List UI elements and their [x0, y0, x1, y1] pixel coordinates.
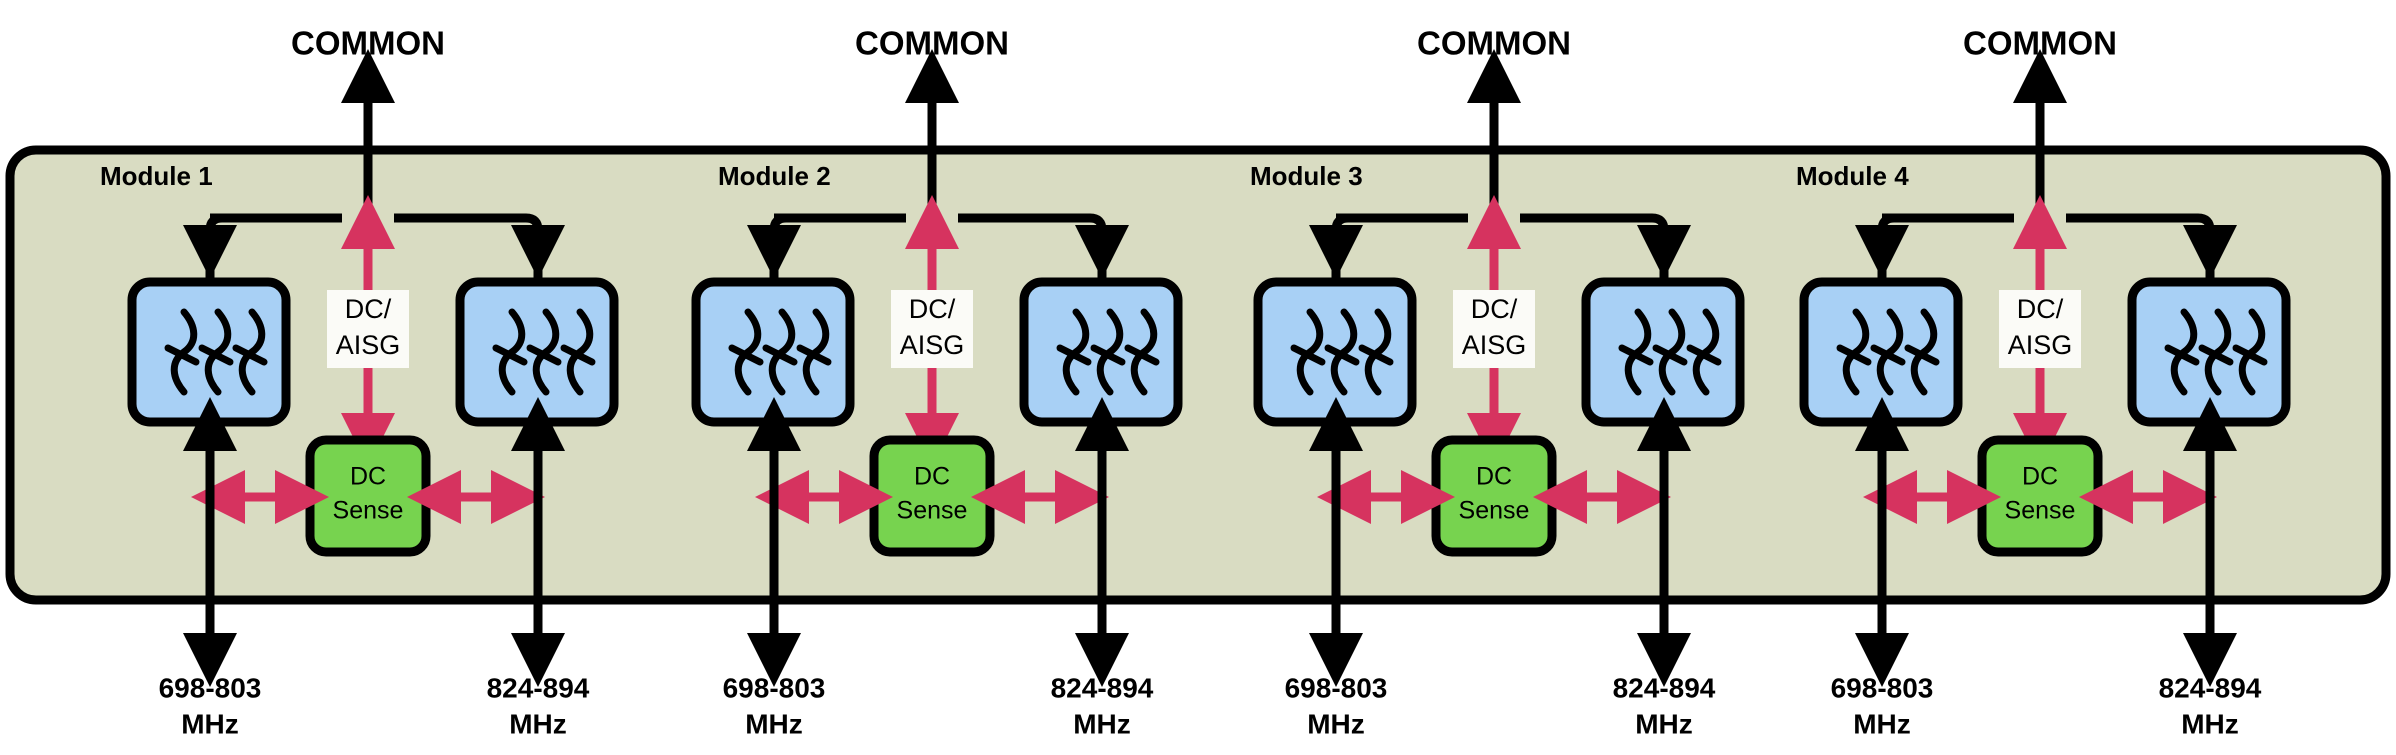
common-label-3: COMMON [1417, 25, 1571, 62]
port-label-low-band-1: 698-803 [159, 672, 262, 703]
module-3: COMMON DC/ AISG DC Sense 698-803 MHz 824… [1250, 25, 1740, 740]
dc-sense-label-line1-4: DC [2022, 463, 2058, 491]
dc-sense-label-line2-4: Sense [2005, 497, 2076, 525]
common-label-1: COMMON [291, 25, 445, 62]
module-label-1: Module 1 [100, 161, 213, 191]
port-label-high-band-1: 824-894 [487, 672, 590, 703]
module-4: COMMON DC/ AISG DC Sense 698-803 MHz 824… [1796, 25, 2286, 740]
module-label-4: Module 4 [1796, 161, 1909, 191]
dc-aisg-label-line1-2: DC/ [909, 294, 956, 324]
dc-sense-label-line2-2: Sense [897, 497, 968, 525]
block-diagram: COMMON DC/ AISG DC Sense [0, 0, 2396, 755]
dc-aisg-label-line1-3: DC/ [1471, 294, 1518, 324]
diagram-root: COMMON DC/ AISG DC Sense [0, 0, 2396, 755]
port-label-high-band-2: 824-894 [1051, 672, 1154, 703]
port-unit-low-band-1: MHz [181, 708, 239, 739]
dc-sense-label-line1-3: DC [1476, 463, 1512, 491]
dc-aisg-label-line2-4: AISG [2008, 330, 2073, 360]
common-label-4: COMMON [1963, 25, 2117, 62]
dc-aisg-label-line1-4: DC/ [2017, 294, 2064, 324]
common-label-2: COMMON [855, 25, 1009, 62]
dc-aisg-label-line2-3: AISG [1462, 330, 1527, 360]
dc-aisg-label-line2-2: AISG [900, 330, 965, 360]
port-unit-high-band-3: MHz [1635, 708, 1693, 739]
port-unit-low-band-4: MHz [1853, 708, 1911, 739]
port-unit-high-band-2: MHz [1073, 708, 1131, 739]
port-label-low-band-4: 698-803 [1831, 672, 1934, 703]
dc-sense-label-line2-1: Sense [333, 497, 404, 525]
dc-sense-label-line1-2: DC [914, 463, 950, 491]
port-unit-low-band-2: MHz [745, 708, 803, 739]
port-unit-high-band-1: MHz [509, 708, 567, 739]
dc-sense-label-line1-1: DC [350, 463, 386, 491]
dc-aisg-label-line1-1: DC/ [345, 294, 392, 324]
port-label-high-band-3: 824-894 [1613, 672, 1716, 703]
port-unit-low-band-3: MHz [1307, 708, 1365, 739]
module-label-2: Module 2 [718, 161, 831, 191]
port-label-low-band-3: 698-803 [1285, 672, 1388, 703]
dc-sense-label-line2-3: Sense [1459, 497, 1530, 525]
dc-aisg-label-line2-1: AISG [336, 330, 401, 360]
port-unit-high-band-4: MHz [2181, 708, 2239, 739]
module-label-3: Module 3 [1250, 161, 1363, 191]
port-label-low-band-2: 698-803 [723, 672, 826, 703]
port-label-high-band-4: 824-894 [2159, 672, 2262, 703]
